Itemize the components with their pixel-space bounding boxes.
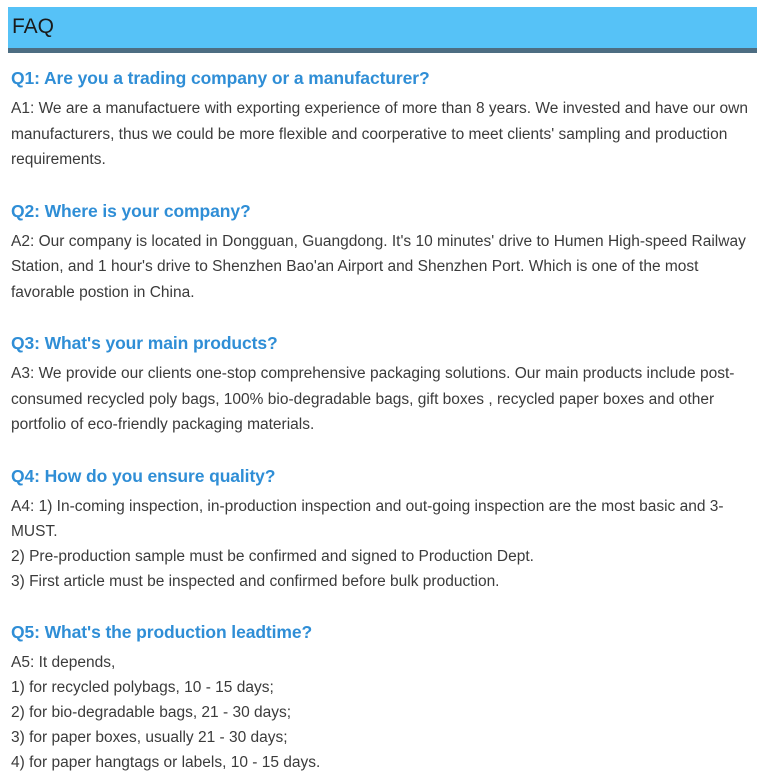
- faq-answer-lines: A4: 1) In-coming inspection, in-producti…: [11, 494, 751, 594]
- faq-item: Q1: Are you a trading company or a manuf…: [11, 66, 751, 173]
- faq-question: Q5: What's the production leadtime?: [11, 620, 751, 644]
- faq-item: Q5: What's the production leadtime? A5: …: [11, 620, 751, 775]
- faq-answer: A3: We provide our clients one-stop comp…: [11, 361, 751, 438]
- page-title: FAQ: [12, 13, 54, 41]
- faq-answer: A2: Our company is located in Dongguan, …: [11, 229, 751, 306]
- faq-answer-line: A5: It depends,: [11, 650, 751, 675]
- faq-answer-line: 2) for bio-degradable bags, 21 - 30 days…: [11, 700, 751, 725]
- faq-list: Q1: Are you a trading company or a manuf…: [11, 66, 751, 775]
- faq-answer: A1: We are a manufactuere with exporting…: [11, 96, 751, 173]
- faq-item: Q3: What's your main products? A3: We pr…: [11, 331, 751, 438]
- faq-page: FAQ Q1: Are you a trading company or a m…: [0, 0, 765, 748]
- faq-item: Q4: How do you ensure quality? A4: 1) In…: [11, 464, 751, 594]
- faq-header-banner: FAQ: [8, 7, 757, 53]
- faq-answer-line: 3) for paper boxes, usually 21 - 30 days…: [11, 725, 751, 750]
- faq-answer-line: 4) for paper hangtags or labels, 10 - 15…: [11, 750, 751, 775]
- faq-answer-line: A4: 1) In-coming inspection, in-producti…: [11, 494, 751, 544]
- faq-question: Q4: How do you ensure quality?: [11, 464, 751, 488]
- faq-item: Q2: Where is your company? A2: Our compa…: [11, 199, 751, 306]
- faq-answer-line: 3) First article must be inspected and c…: [11, 569, 751, 594]
- faq-answer-line: 2) Pre-production sample must be confirm…: [11, 544, 751, 569]
- faq-question: Q1: Are you a trading company or a manuf…: [11, 66, 751, 90]
- faq-answer-lines: A5: It depends, 1) for recycled polybags…: [11, 650, 751, 775]
- faq-question: Q3: What's your main products?: [11, 331, 751, 355]
- faq-answer-line: 1) for recycled polybags, 10 - 15 days;: [11, 675, 751, 700]
- faq-question: Q2: Where is your company?: [11, 199, 751, 223]
